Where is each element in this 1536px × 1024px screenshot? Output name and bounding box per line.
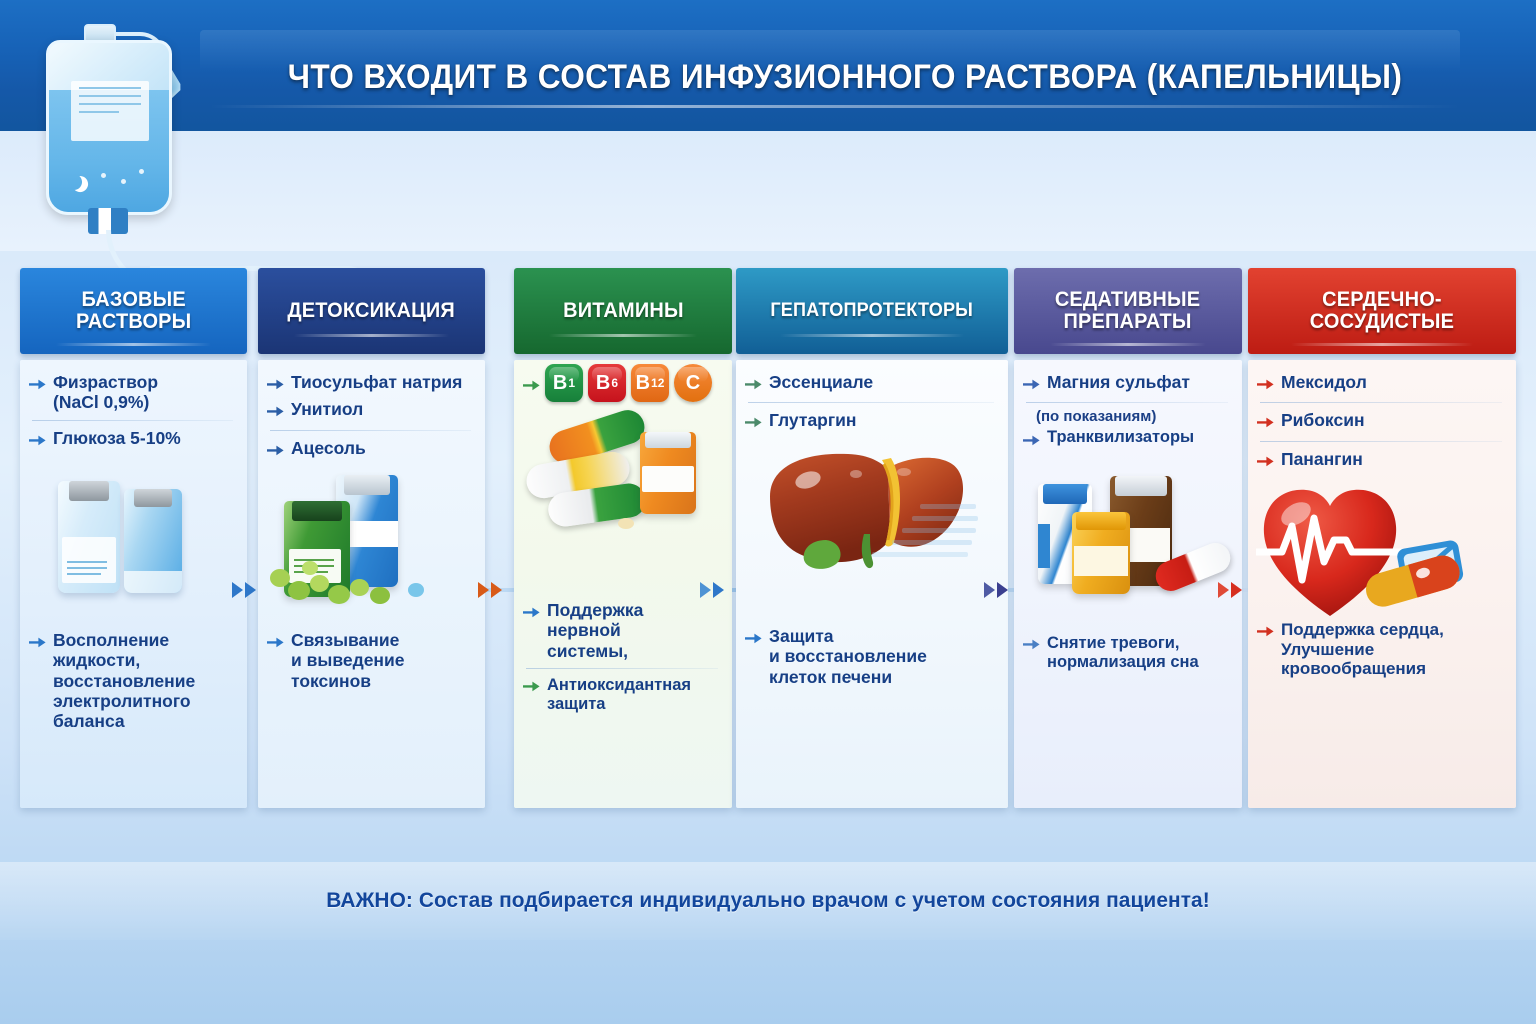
column-title-line1: СЕДАТИВНЫЕ	[1055, 288, 1200, 311]
list-item[interactable]: Эссенциале	[736, 370, 1008, 397]
benefit-line: жидкости,	[53, 650, 140, 670]
list-item[interactable]: Глутаргин	[736, 408, 1008, 435]
column-cardiovascular[interactable]: СЕРДЕЧНО- СОСУДИСТЫЕ Мексидол Рибоксин	[1248, 268, 1516, 808]
list-item[interactable]: Транквилизаторы	[1014, 426, 1242, 453]
divider	[748, 402, 994, 403]
list-item[interactable]: Тиосульфат натрия	[258, 370, 485, 397]
column-body-cardiovascular: Мексидол Рибоксин Панангин	[1248, 360, 1516, 808]
item-text: Рибоксин	[1281, 410, 1365, 430]
vial-icon	[58, 481, 120, 593]
benefit-text: Связывание и выведение токсинов	[258, 628, 485, 693]
benefit-line: нормализация сна	[1047, 653, 1199, 671]
list-item[interactable]: Рибоксин	[1248, 408, 1516, 435]
bullet-arrow-icon	[1257, 413, 1274, 433]
badge-sub: 12	[651, 376, 664, 390]
benefit-line: токсинов	[291, 671, 371, 691]
bullet-arrow-icon	[523, 679, 540, 698]
badge-sub: 1	[568, 376, 575, 390]
benefit-line: Связывание	[291, 630, 399, 650]
column-body-hepatoprotectors: Эссенциале Глутаргин	[736, 360, 1008, 808]
art-sedative-bottles	[1014, 464, 1242, 629]
list-item[interactable]: Ацесоль	[258, 436, 485, 463]
column-title-line2: СОСУДИСТЫЕ	[1310, 310, 1454, 333]
divider	[270, 430, 471, 431]
benefit-line: и восстановление	[769, 646, 927, 666]
column-body-sedatives: Магния сульфат (по показаниям) Транквили…	[1014, 360, 1242, 808]
art-two-glass-vials	[20, 467, 247, 597]
flow-arrow-3	[700, 575, 732, 605]
iv-dot	[101, 173, 106, 178]
benefit-line: системы,	[547, 641, 628, 661]
art-detox-bottles	[258, 469, 485, 619]
benefit-line: Снятие тревоги,	[1047, 634, 1179, 652]
divider	[1260, 402, 1502, 403]
page-title: ЧТО ВХОДИТ В СОСТАВ ИНФУЗИОННОГО РАСТВОР…	[245, 58, 1445, 97]
bullet-arrow-icon	[745, 375, 762, 395]
benefit-block: Снятие тревоги, нормализация сна	[1014, 632, 1242, 674]
benefit-text: Защита и восстановление клеток печени	[736, 624, 1008, 689]
divider	[1260, 441, 1502, 442]
benefit-text: Восполнение жидкости, восстановление эле…	[20, 628, 247, 733]
bullet-arrow-icon	[1023, 637, 1040, 656]
vitamin-badge-c[interactable]: C	[674, 364, 712, 402]
item-text: Магния сульфат	[1047, 372, 1190, 392]
column-header-base-solutions: БАЗОВЫЕ РАСТВОРЫ	[20, 268, 247, 354]
benefit-block: Поддержка нервной системы, Антиоксидантн…	[514, 598, 732, 716]
badge-label: B	[636, 372, 650, 395]
list-item[interactable]: Унитиол	[258, 397, 485, 424]
item-text: Ацесоль	[291, 438, 366, 458]
bullet-arrow-icon	[267, 402, 284, 422]
item-text: Тиосульфат натрия	[291, 372, 462, 392]
heart-icon	[1256, 478, 1506, 628]
column-title: ГЕПАТОПРОТЕКТОРЫ	[765, 301, 979, 321]
benefit-line: Защита	[769, 626, 834, 646]
bullet-arrow-icon	[1023, 431, 1040, 451]
bullet-arrow-icon	[1023, 375, 1040, 395]
bullet-arrow-icon	[523, 379, 540, 397]
yellow-bottle-icon	[1072, 512, 1130, 594]
iv-label	[71, 81, 149, 141]
bullet-arrow-icon	[1257, 623, 1274, 643]
benefit-line: защита	[547, 695, 605, 713]
iv-dot	[121, 179, 126, 184]
benefit-line: клеток печени	[769, 667, 892, 687]
header-sheen	[210, 105, 1460, 108]
column-header-sedatives: СЕДАТИВНЫЕ ПРЕПАРАТЫ	[1014, 268, 1242, 354]
divider	[1026, 402, 1228, 403]
item-text: Транквилизаторы	[1047, 428, 1194, 447]
item-text-line1: Физраствор	[53, 372, 158, 392]
badge-label: B	[596, 372, 610, 395]
bullet-arrow-icon	[1257, 375, 1274, 395]
divider	[526, 668, 718, 669]
benefit-line: восстановление	[53, 671, 195, 691]
benefit-line: Поддержка	[547, 600, 643, 620]
column-body-detox: Тиосульфат натрия Унитиол Ацесоль	[258, 360, 485, 808]
bullet-arrow-icon	[29, 431, 46, 451]
flow-arrow-2	[478, 575, 510, 605]
benefit-line: Восполнение	[53, 630, 169, 650]
benefit-text: Поддержка сердца, Улучшение кровообращен…	[1248, 618, 1516, 681]
item-text: Эссенциале	[769, 372, 873, 392]
bullet-arrow-icon	[523, 603, 540, 623]
vitamin-badge-b12[interactable]: B12	[631, 364, 669, 402]
column-title: ВИТАМИНЫ	[557, 300, 689, 322]
item-text: Мексидол	[1281, 372, 1367, 392]
tablet-icon	[618, 518, 634, 529]
column-title-line1: БАЗОВЫЕ	[81, 288, 185, 311]
vitamin-badge-b1[interactable]: B1	[545, 364, 583, 402]
vial-icon	[124, 489, 182, 593]
bullet-arrow-icon	[267, 441, 284, 461]
benefit-block: Связывание и выведение токсинов	[258, 628, 485, 693]
benefit-block: Восполнение жидкости, восстановление эле…	[20, 628, 247, 733]
badge-label: C	[686, 372, 700, 395]
column-header-vitamins: ВИТАМИНЫ	[514, 268, 732, 354]
item-text: Глутаргин	[769, 410, 857, 430]
bullet-arrow-icon	[267, 633, 284, 653]
bullet-arrow-icon	[267, 375, 284, 395]
benefit-line: и выведение	[291, 650, 405, 670]
benefit-text: Снятие тревоги, нормализация сна	[1014, 632, 1242, 674]
benefit-line: баланса	[53, 711, 125, 731]
list-item[interactable]: Панангин	[1248, 447, 1516, 474]
column-header-detox: ДЕТОКСИКАЦИЯ	[258, 268, 485, 354]
art-capsules-bottle	[514, 406, 732, 581]
flow-arrow-4	[984, 575, 1016, 605]
benefit-line: Антиоксидантная	[547, 676, 691, 694]
bullet-arrow-icon	[29, 375, 46, 395]
divider	[32, 420, 233, 421]
column-hepatoprotectors[interactable]: ГЕПАТОПРОТЕКТОРЫ Эссенциале Глутаргин	[736, 268, 1008, 808]
column-header-cardiovascular: СЕРДЕЧНО- СОСУДИСТЫЕ	[1248, 268, 1516, 354]
bullet-arrow-icon	[1257, 452, 1274, 472]
liver-icon	[752, 444, 982, 594]
vitamin-badge-b6[interactable]: B6	[588, 364, 626, 402]
benefit-line: нервной	[547, 620, 621, 640]
benefit-block: Поддержка сердца, Улучшение кровообращен…	[1248, 618, 1516, 681]
column-title: ДЕТОКСИКАЦИЯ	[282, 300, 461, 322]
column-vitamins[interactable]: ВИТАМИНЫ B1 B6 B12 C	[514, 268, 732, 808]
footer-note: ВАЖНО: Состав подбирается индивидуально …	[23, 888, 1513, 913]
list-item[interactable]: Глюкоза 5-10%	[20, 426, 247, 453]
benefit-text: Поддержка нервной системы,	[514, 598, 732, 663]
benefit-line: Поддержка сердца,	[1281, 620, 1444, 639]
vitamin-badge-row: B1 B6 B12 C	[514, 360, 732, 404]
category-columns: БАЗОВЫЕ РАСТВОРЫ Физраствор (NaCl 0,9%)	[0, 268, 1536, 828]
bullet-arrow-icon	[745, 413, 762, 433]
sub-band	[0, 131, 1536, 251]
column-body-base-solutions: Физраствор (NaCl 0,9%) Глюкоза 5-10%	[20, 360, 247, 808]
badge-sub: 6	[611, 376, 618, 390]
bullet-arrow-icon	[29, 633, 46, 653]
column-title-line1: СЕРДЕЧНО-	[1322, 288, 1442, 311]
column-detox[interactable]: ДЕТОКСИКАЦИЯ Тиосульфат натрия Унитиол	[258, 268, 485, 808]
note-text: (по показаниям)	[1014, 408, 1242, 425]
item-text: Панангин	[1281, 449, 1363, 469]
list-item[interactable]: Мексидол	[1248, 370, 1516, 397]
iv-bag-icon	[46, 40, 172, 215]
list-item[interactable]: Магния сульфат	[1014, 370, 1242, 397]
column-title-line2: ПРЕПАРАТЫ	[1064, 310, 1192, 333]
flow-arrow-5	[1218, 575, 1250, 605]
benefit-line: кровообращения	[1281, 659, 1426, 678]
item-text: Унитиол	[291, 399, 363, 419]
badge-label: B	[553, 372, 567, 395]
item-text-line2: (NaCl 0,9%)	[53, 392, 149, 412]
benefit-text-2: Антиоксидантная защита	[514, 674, 732, 716]
benefit-line: Улучшение	[1281, 640, 1374, 659]
art-heart-ecg	[1248, 478, 1516, 633]
column-title-line2: РАСТВОРЫ	[76, 310, 191, 333]
benefit-block: Защита и восстановление клеток печени	[736, 624, 1008, 689]
column-base-solutions[interactable]: БАЗОВЫЕ РАСТВОРЫ Физраствор (NaCl 0,9%)	[20, 268, 247, 808]
orange-pill-bottle-icon	[640, 432, 696, 514]
column-header-hepatoprotectors: ГЕПАТОПРОТЕКТОРЫ	[736, 268, 1008, 354]
list-item[interactable]: Физраствор (NaCl 0,9%)	[20, 370, 247, 415]
benefit-line: электролитного	[53, 691, 191, 711]
iv-bag-illustration	[22, 18, 222, 268]
art-liver	[736, 444, 1008, 614]
iv-dot	[139, 169, 144, 174]
item-text: Глюкоза 5-10%	[53, 428, 181, 448]
bullet-arrow-icon	[745, 629, 762, 649]
column-sedatives[interactable]: СЕДАТИВНЫЕ ПРЕПАРАТЫ Магния сульфат (по …	[1014, 268, 1242, 808]
